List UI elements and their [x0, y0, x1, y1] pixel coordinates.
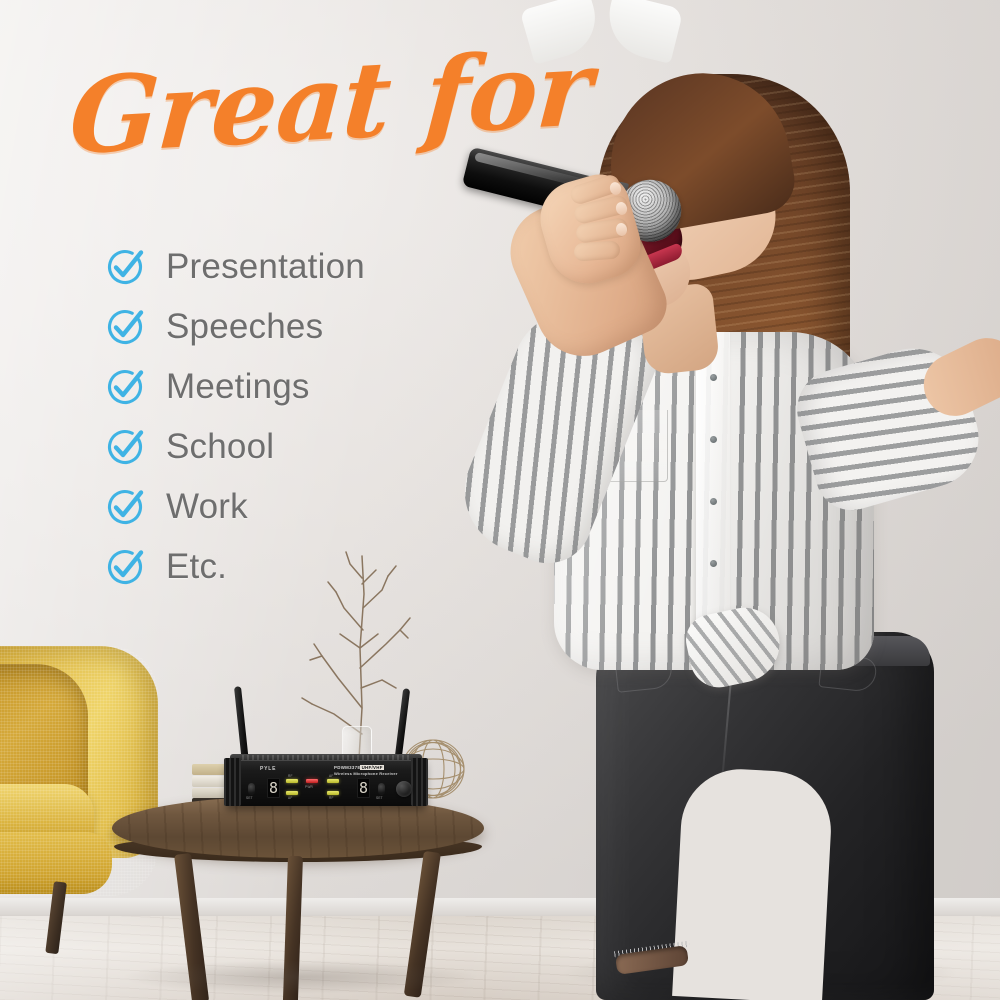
rf-led-indicator: [327, 779, 339, 783]
list-item-label: Etc.: [166, 549, 227, 584]
led-label-pwr: PWR: [305, 785, 313, 789]
channel-display-right: 8: [357, 778, 370, 798]
receiver-model-number: PDWM3378UHF/VHF: [334, 765, 384, 770]
shirt-collar-right: [600, 0, 683, 64]
blue-check-circle-icon: [104, 543, 150, 589]
list-item: Meetings: [104, 356, 434, 416]
list-item: School: [104, 416, 434, 476]
led-label-af: AF: [288, 796, 292, 800]
list-item: Work: [104, 476, 434, 536]
led-label-rf: RF: [288, 774, 293, 778]
power-led-indicator: [306, 779, 318, 783]
pyle-wireless-microphone-receiver: PYLE PDWM3378UHF/VHF Wireless Microphone…: [226, 686, 426, 812]
receiver-side-rack-ear: [411, 758, 428, 806]
af-led-indicator: [286, 791, 298, 795]
af-led-indicator: [327, 791, 339, 795]
list-item: Speeches: [104, 296, 434, 356]
receiver-side-rack-ear: [224, 758, 241, 806]
receiver-subtitle: Wireless Microphone Receiver: [334, 771, 398, 776]
model-text: PDWM3378: [334, 765, 360, 770]
model-badge: UHF/VHF: [360, 765, 384, 770]
woman-singing: [430, 0, 1000, 1000]
blue-check-circle-icon: [104, 243, 150, 289]
blue-check-circle-icon: [104, 483, 150, 529]
list-item-label: Presentation: [166, 249, 365, 284]
list-item-label: School: [166, 429, 274, 464]
set-button[interactable]: [378, 783, 385, 795]
blue-check-circle-icon: [104, 303, 150, 349]
rf-led-indicator: [286, 779, 298, 783]
finger: [573, 240, 620, 261]
marketing-image-canvas: Great for Presentation Speeches: [0, 0, 1000, 1000]
set-button[interactable]: [248, 783, 255, 795]
volume-knob[interactable]: [396, 781, 412, 797]
blue-check-circle-icon: [104, 423, 150, 469]
list-item-label: Work: [166, 489, 248, 524]
led-label-af: AF: [329, 774, 333, 778]
list-item-label: Meetings: [166, 369, 310, 404]
blue-check-circle-icon: [104, 363, 150, 409]
list-item: Presentation: [104, 236, 434, 296]
set-button-label: SET: [376, 796, 383, 800]
table-floor-shadow: [120, 960, 480, 994]
list-item-label: Speeches: [166, 309, 323, 344]
jeans-leg-gap: [672, 766, 834, 1000]
receiver-front-panel: [226, 760, 426, 806]
set-button-label: SET: [246, 796, 253, 800]
channel-display-left: 8: [267, 778, 280, 798]
pyle-brand-logo: PYLE: [260, 766, 276, 772]
led-label-rf: RF: [329, 796, 334, 800]
shirt-collar-left: [520, 0, 605, 65]
